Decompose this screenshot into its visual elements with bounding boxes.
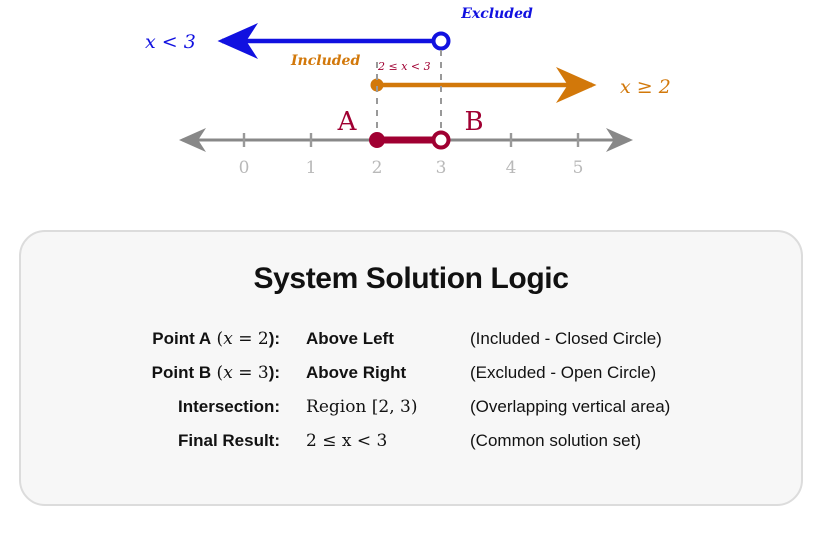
blue-ray-label: x < 3: [145, 31, 196, 53]
logic-table-body: Point A (x = 2): Above Left (Included - …: [152, 322, 671, 458]
figure-stage: Excluded x < 3 Included 2 ≤ x < 3 x ≥ 2 …: [0, 0, 823, 534]
table-row: Final Result: 2 ≤ x < 3 (Common solution…: [152, 424, 671, 458]
row-label-paren-open: (: [211, 329, 223, 349]
row-value: Region [2, 3): [306, 390, 470, 424]
row-label-text: Intersection:: [178, 397, 280, 416]
row-label-text: Point B: [152, 363, 212, 382]
row-value: Above Right: [306, 356, 470, 390]
row-label-var: x: [223, 329, 233, 349]
row-label-point-a: Point A (x = 2):: [152, 322, 306, 356]
number-line-tick-labels: 0 1 2 3 4 5: [239, 158, 584, 178]
row-label-point-b: Point B (x = 3):: [152, 356, 306, 390]
included-tag: Included: [290, 53, 360, 69]
solution-open-endpoint: [434, 133, 449, 148]
row-label-final-result: Final Result:: [152, 424, 306, 458]
row-label-val: 2: [258, 329, 269, 349]
table-row: Point B (x = 3): Above Right (Excluded -…: [152, 356, 671, 390]
row-value: Above Left: [306, 322, 470, 356]
row-label-eq: =: [233, 329, 258, 349]
row-label-paren-close: ):: [269, 363, 280, 382]
row-label-eq: =: [233, 363, 258, 383]
row-note: (Overlapping vertical area): [470, 390, 670, 424]
blue-open-circle-marker: [434, 34, 449, 49]
row-label-text: Point A: [152, 329, 211, 348]
row-label-paren-close: ):: [269, 329, 280, 348]
tick-label-4: 4: [506, 158, 517, 178]
row-value: 2 ≤ x < 3: [306, 424, 470, 458]
tick-label-3: 3: [436, 158, 447, 178]
orange-ray-label: x ≥ 2: [620, 76, 671, 98]
tick-label-5: 5: [573, 158, 584, 178]
row-label-paren-open: (: [211, 363, 223, 383]
row-note: (Excluded - Open Circle): [470, 356, 670, 390]
row-label-intersection: Intersection:: [152, 390, 306, 424]
excluded-tag: Excluded: [460, 6, 533, 22]
tick-label-0: 0: [239, 158, 250, 178]
tick-label-2: 2: [372, 158, 383, 178]
tick-label-1: 1: [306, 158, 317, 178]
row-label-val: 3: [258, 363, 269, 383]
point-a-label: A: [337, 107, 358, 137]
table-row: Intersection: Region [2, 3) (Overlapping…: [152, 390, 671, 424]
row-note: (Included - Closed Circle): [470, 322, 670, 356]
table-row: Point A (x = 2): Above Left (Included - …: [152, 322, 671, 356]
row-note: (Common solution set): [470, 424, 670, 458]
logic-table: Point A (x = 2): Above Left (Included - …: [152, 322, 671, 458]
row-label-text: Final Result:: [178, 431, 280, 450]
solution-closed-endpoint: [369, 132, 385, 148]
point-b-label: B: [464, 107, 483, 137]
row-label-var: x: [223, 363, 233, 383]
solution-logic-card: System Solution Logic Point A (x = 2): A…: [19, 230, 803, 506]
card-title: System Solution Logic: [21, 262, 801, 296]
intersection-inline-label: 2 ≤ x < 3: [377, 60, 431, 73]
